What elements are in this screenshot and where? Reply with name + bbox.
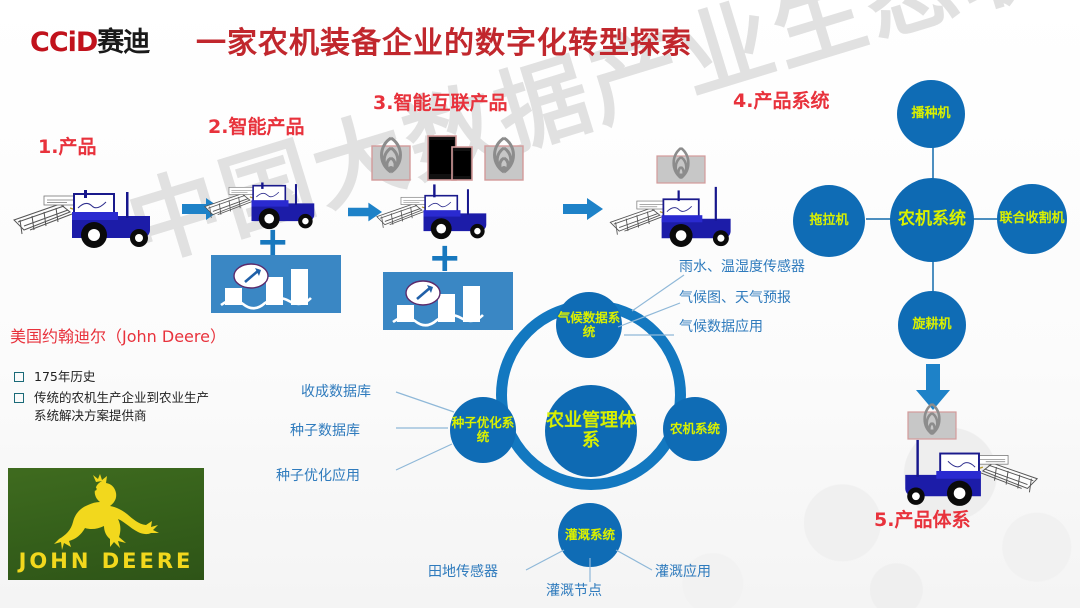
bullet-text-1: 175年历史 (34, 368, 218, 386)
wifi-icon-4 (657, 156, 775, 184)
logo-text-red: CCiD (30, 27, 97, 58)
step-label-3: 3.智能互联产品 (373, 88, 507, 115)
company-title: 美国约翰迪尔（John Deere） (10, 325, 225, 349)
wifi-icon-5 (908, 412, 956, 440)
machine-node-rotary-tiller: 旋耕机 (898, 291, 966, 359)
seed-label-3: 种子优化应用 (276, 465, 360, 485)
step-label-1: 1.产品 (38, 132, 96, 159)
company-bullets: 175年历史 传统的农机生产企业到农业生产系统解决方案提供商 (8, 368, 218, 428)
hub-center-node: 农业管理体系 (545, 385, 637, 477)
ccid-logo: CCiD赛迪 (30, 20, 149, 59)
tractor-scene-1 (8, 178, 178, 250)
dashboard-panel-2 (383, 272, 513, 330)
irrigation-label-3: 灌溉应用 (655, 561, 711, 581)
hub-node-machinery: 农机系统 (663, 397, 727, 461)
irrigation-label-2: 灌溉节点 (546, 580, 602, 600)
seed-leader-lines (388, 382, 468, 482)
machine-node-seeder: 播种机 (897, 80, 965, 148)
john-deere-wordmark: JOHN DEERE (8, 549, 204, 573)
dashboard-panel-1 (211, 255, 341, 313)
bullet-square-icon (14, 372, 24, 382)
wifi-and-device-icons (372, 136, 524, 188)
seed-label-1: 收成数据库 (301, 381, 371, 401)
seed-label-2: 种子数据库 (290, 420, 360, 440)
irrigation-label-1: 田地传感器 (428, 561, 498, 581)
bullet-square-icon (14, 393, 24, 403)
logo-text-black: 赛迪 (97, 27, 149, 58)
page-title: 一家农机装备企业的数字化转型探索 (196, 18, 692, 62)
tractor-illustration (8, 178, 178, 250)
machine-node-harvester: 联合收割机 (997, 184, 1067, 254)
flow-arrow-3 (563, 198, 603, 220)
climate-label-2: 气候图、天气预报 (679, 287, 791, 307)
machine-node-tractor: 拖拉机 (793, 185, 865, 257)
climate-label-3: 气候数据应用 (679, 316, 763, 336)
bullet-text-2: 传统的农机生产企业到农业生产系统解决方案提供商 (34, 389, 218, 425)
step-label-4: 4.产品系统 (733, 86, 829, 113)
machine-center-node: 农机系统 (890, 178, 974, 262)
bullet-item-2: 传统的农机生产企业到农业生产系统解决方案提供商 (8, 389, 218, 425)
john-deere-logo: JOHN DEERE (8, 468, 204, 580)
leaping-deer-icon (40, 474, 170, 540)
bullet-item-1: 175年历史 (8, 368, 218, 386)
connected-devices-group (372, 136, 524, 188)
step-label-2: 2.智能产品 (208, 112, 304, 139)
flow-arrow-down (916, 364, 950, 410)
climate-label-1: 雨水、温湿度传感器 (679, 256, 805, 276)
slide-canvas: 中国大数据产业生态联盟 CCiD赛迪 一家农机装备企业的数字化转型探索 1.产品… (0, 0, 1080, 608)
